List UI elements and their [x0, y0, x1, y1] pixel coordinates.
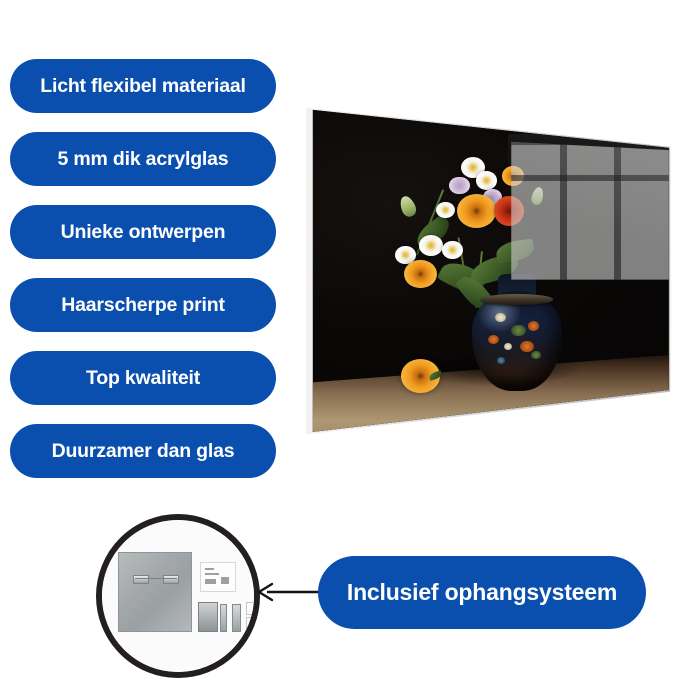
arrow-left-icon — [255, 575, 325, 609]
plate-bracket-left-icon — [133, 575, 149, 584]
feature-badge-label: Licht flexibel materiaal — [40, 75, 245, 98]
artwork-flower-white — [442, 241, 463, 259]
artwork-vase-body — [472, 291, 562, 392]
metal-mounting-plate-icon — [118, 552, 192, 632]
panel-window-reflection — [511, 138, 674, 280]
feature-badge-label: Duurzamer dan glas — [52, 440, 235, 463]
artwork-flower-white — [419, 235, 443, 256]
screw-icon — [232, 604, 241, 632]
artwork-vase-collar — [481, 294, 553, 305]
feature-badge-top-kwaliteit[interactable]: Top kwaliteit — [10, 351, 276, 405]
artwork-flower-lilac — [449, 177, 469, 195]
mounting-kit-photo — [96, 518, 260, 678]
mounting-system-badge[interactable]: Inclusief ophangsysteem — [318, 556, 646, 629]
screw-pack-icon — [198, 602, 218, 632]
mounting-system-badge-label: Inclusief ophangsysteem — [347, 579, 617, 606]
wall-anchor-icon — [246, 617, 260, 630]
instruction-card-icon — [200, 562, 236, 592]
feature-badge-5-mm-dik-acrylglas[interactable]: 5 mm dik acrylglas — [10, 132, 276, 186]
artwork-flower-orange-main — [457, 194, 496, 228]
plate-level-line — [135, 578, 177, 579]
feature-badge-licht-flexibel-materiaal[interactable]: Licht flexibel materiaal — [10, 59, 276, 113]
artwork-fallen-flower — [401, 359, 440, 393]
feature-badge-duurzamer-dan-glas[interactable]: Duurzamer dan glas — [10, 424, 276, 478]
artwork-flower-white — [476, 171, 497, 189]
artwork-vase — [472, 274, 562, 391]
mounting-kit-circle — [96, 514, 260, 678]
feature-badge-label: Unieke ontwerpen — [61, 221, 226, 244]
artwork-flower-orange — [404, 260, 436, 288]
feature-badge-haarscherpe-print[interactable]: Haarscherpe print — [10, 278, 276, 332]
plate-bracket-right-icon — [163, 575, 179, 584]
acrylic-panel — [305, 95, 680, 450]
feature-badge-label: 5 mm dik acrylglas — [58, 148, 229, 171]
screw-icon — [220, 604, 227, 632]
feature-badge-unieke-ontwerpen[interactable]: Unieke ontwerpen — [10, 205, 276, 259]
feature-badge-label: Haarscherpe print — [61, 294, 225, 317]
artwork-flower-white — [436, 202, 455, 218]
feature-badge-label: Top kwaliteit — [86, 367, 200, 390]
product-feature-graphic: Licht flexibel materiaal 5 mm dik acrylg… — [0, 0, 700, 700]
